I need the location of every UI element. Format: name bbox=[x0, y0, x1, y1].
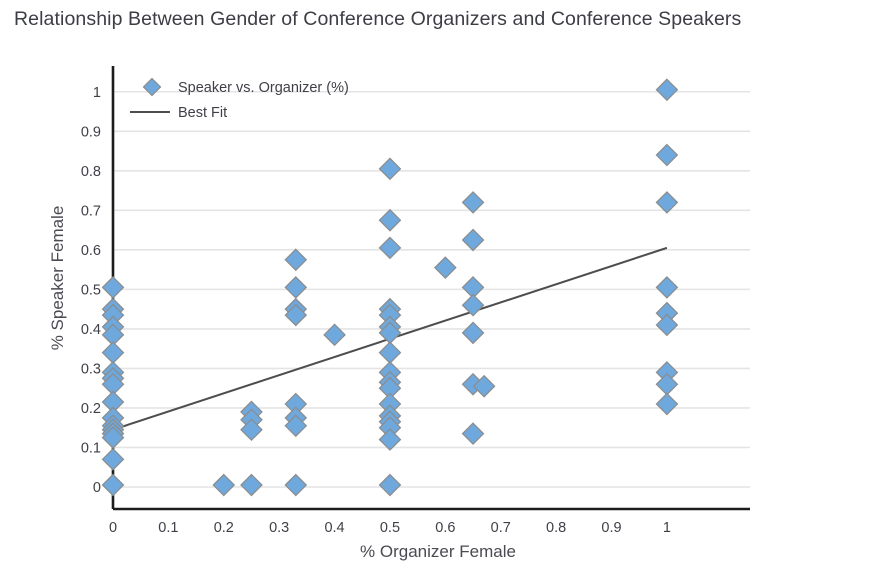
scatter-point bbox=[285, 277, 306, 298]
y-tick-labels-group: 00.10.20.30.40.50.60.70.80.91 bbox=[81, 85, 101, 496]
scatter-point bbox=[103, 277, 124, 298]
scatter-point bbox=[379, 237, 400, 258]
data-points-group bbox=[103, 79, 678, 495]
x-tick-label: 0.7 bbox=[491, 520, 511, 536]
y-tick-label: 0.1 bbox=[81, 440, 101, 456]
x-tick-label: 0.5 bbox=[380, 520, 400, 536]
x-tick-label: 0.6 bbox=[435, 520, 455, 536]
x-tick-label: 0.1 bbox=[158, 520, 178, 536]
y-tick-label: 0.7 bbox=[81, 203, 101, 219]
chart-figure: Relationship Between Gender of Conferenc… bbox=[0, 0, 876, 570]
scatter-point bbox=[463, 295, 484, 316]
scatter-point bbox=[285, 249, 306, 270]
scatter-point bbox=[379, 158, 400, 179]
scatter-point bbox=[379, 342, 400, 363]
x-tick-labels-group: 00.10.20.30.40.50.60.70.80.91 bbox=[109, 520, 671, 536]
y-tick-label: 0.8 bbox=[81, 164, 101, 180]
scatter-point bbox=[213, 475, 234, 496]
scatter-point bbox=[656, 79, 677, 100]
y-tick-label: 0.2 bbox=[81, 401, 101, 417]
legend-marker-scatter bbox=[144, 79, 161, 96]
x-tick-label: 0.4 bbox=[324, 520, 344, 536]
x-tick-label: 1 bbox=[663, 520, 671, 536]
y-tick-label: 0.5 bbox=[81, 282, 101, 298]
scatter-point bbox=[103, 475, 124, 496]
scatter-point bbox=[463, 423, 484, 444]
scatter-point bbox=[103, 342, 124, 363]
scatter-point bbox=[656, 374, 677, 395]
x-axis-title: % Organizer Female bbox=[360, 542, 516, 561]
scatter-point bbox=[656, 277, 677, 298]
y-axis-title: % Speaker Female bbox=[48, 206, 67, 351]
scatter-point bbox=[285, 475, 306, 496]
scatter-point bbox=[241, 475, 262, 496]
legend: Speaker vs. Organizer (%)Best Fit bbox=[130, 79, 349, 122]
y-tick-label: 0.4 bbox=[81, 322, 101, 338]
y-tick-label: 1 bbox=[93, 85, 101, 101]
legend-label-bestfit: Best Fit bbox=[178, 105, 227, 121]
x-tick-label: 0.2 bbox=[214, 520, 234, 536]
scatter-point bbox=[463, 229, 484, 250]
x-tick-label: 0.9 bbox=[601, 520, 621, 536]
scatter-point bbox=[103, 449, 124, 470]
scatter-point bbox=[656, 145, 677, 166]
x-tick-label: 0.8 bbox=[546, 520, 566, 536]
x-tick-label: 0.3 bbox=[269, 520, 289, 536]
scatter-point bbox=[656, 394, 677, 415]
y-tick-label: 0.3 bbox=[81, 361, 101, 377]
scatter-point bbox=[435, 257, 456, 278]
scatter-point bbox=[379, 210, 400, 231]
scatter-point bbox=[656, 314, 677, 335]
scatter-point bbox=[463, 322, 484, 343]
y-tick-label: 0.6 bbox=[81, 243, 101, 259]
scatter-point bbox=[379, 475, 400, 496]
y-tick-label: 0.9 bbox=[81, 124, 101, 140]
scatter-plot-canvas: 00.10.20.30.40.50.60.70.80.91 00.10.20.3… bbox=[0, 0, 876, 570]
y-tick-label: 0 bbox=[93, 480, 101, 496]
scatter-point bbox=[324, 324, 345, 345]
gridlines-group bbox=[113, 92, 750, 487]
x-tick-label: 0 bbox=[109, 520, 117, 536]
legend-label-scatter: Speaker vs. Organizer (%) bbox=[178, 80, 349, 96]
